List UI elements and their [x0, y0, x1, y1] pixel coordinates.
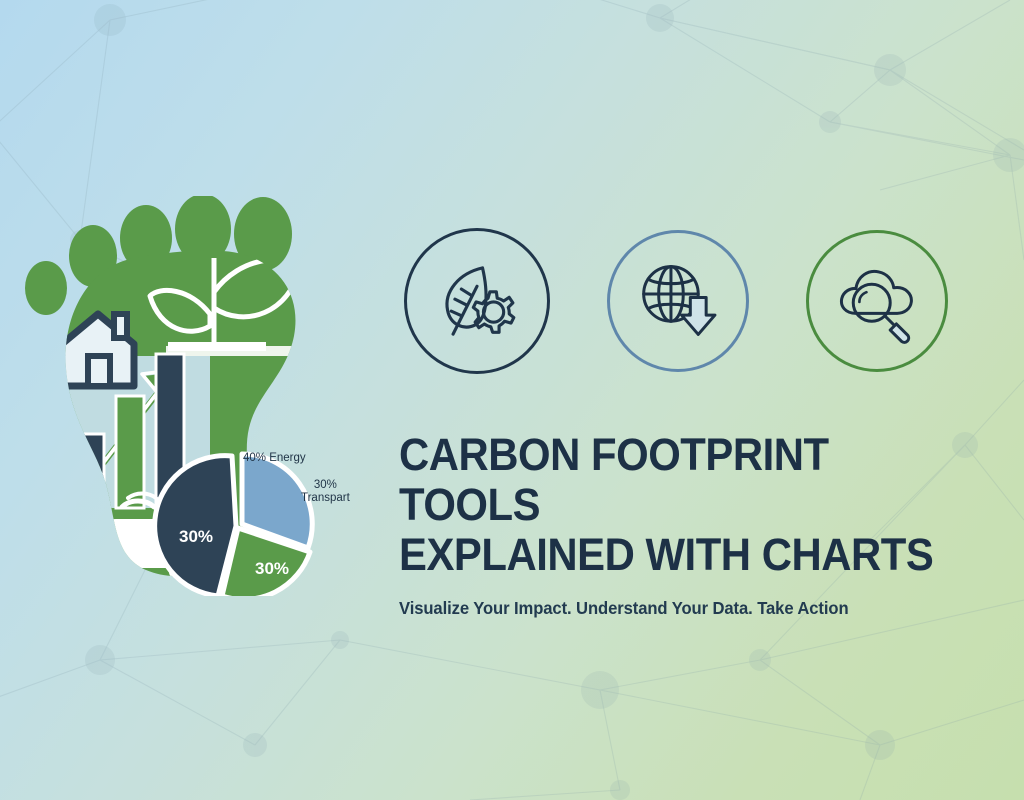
pie-label-transport: 30% Transpart	[301, 479, 350, 505]
globe-down-arrow-icon-badge[interactable]	[607, 230, 749, 372]
leaf-gear-icon-badge[interactable]	[404, 228, 550, 374]
poster-canvas: 30% 30% 40% Energy 30% Transpart	[0, 0, 1024, 800]
cloud-magnifier-icon	[833, 257, 921, 345]
page-title: CARBON FOOTPRINT TOOLS EXPLAINED WITH CH…	[399, 430, 957, 580]
green-footprint-infographic: 30% 30%	[18, 196, 378, 596]
pie-chart: 30% 30%	[155, 454, 313, 596]
globe-down-arrow-icon	[634, 257, 722, 345]
pie-slice-label-transport: 30%	[255, 559, 289, 578]
cloud-magnifier-icon-badge[interactable]	[806, 230, 948, 372]
leaf-gear-icon	[431, 255, 523, 347]
pie-slice-label-other: 30%	[179, 527, 213, 546]
pie-label-energy: 40% Energy	[243, 452, 306, 464]
pie-label-transport-name: Transpart	[301, 492, 350, 505]
feature-icon-row	[404, 228, 948, 374]
page-subtitle: Visualize Your Impact. Understand Your D…	[399, 598, 969, 619]
pie-label-transport-value: 30%	[301, 479, 350, 492]
headline-block: CARBON FOOTPRINT TOOLS EXPLAINED WITH CH…	[399, 430, 999, 619]
